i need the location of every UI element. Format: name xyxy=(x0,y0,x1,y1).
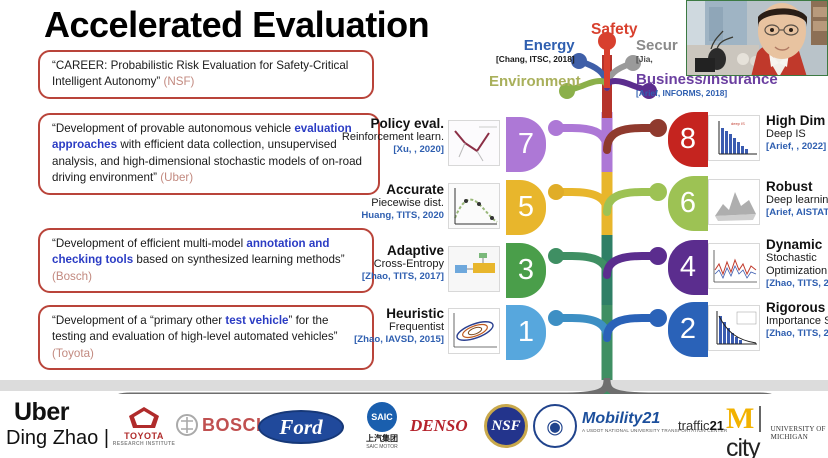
node-row-5: 5 Accurate Piecewise dist. Huang, TITS, … xyxy=(386,180,566,238)
canopy-energy-text: Energy xyxy=(496,38,575,54)
node-badge-4[interactable]: 4 xyxy=(668,240,708,295)
svg-text:deep IS: deep IS xyxy=(731,121,745,126)
node-row-2: 2 Rigorous Importance Sampling [ xyxy=(668,302,828,360)
node-thumb-4-timeseries-plot xyxy=(708,243,760,289)
node-title-2: Rigorous xyxy=(766,300,828,315)
umich-m-mark: M xyxy=(726,402,754,435)
toyota-logo-text: TOYOTA xyxy=(124,431,164,441)
node-text-8: High Dim Deep IS [Arief, , 2022] xyxy=(766,113,828,153)
node-thumb-7-line-network-plot xyxy=(448,120,500,166)
ford-logo: Ford xyxy=(258,410,344,444)
toyota-mark-icon xyxy=(125,405,163,431)
node-cite-7: [Xu, , 2020] xyxy=(334,144,444,156)
node-thumb-6-surface-3d-plot xyxy=(708,179,760,225)
node-text-1: Heuristic Frequentist [Zhao, IAVSD, 2015… xyxy=(326,306,444,346)
node-title-8: High Dim xyxy=(766,113,828,128)
node-text-3: Adaptive Cross-Entropy [Zhao, TITS, 2017… xyxy=(332,243,444,283)
canopy-label-safety: Safety xyxy=(591,22,638,38)
node-text-2: Rigorous Importance Sampling [Zhao, TITS… xyxy=(766,300,828,340)
webcam-watermark-icon xyxy=(695,58,715,72)
sponsor-logo-bar: Uber Ding Zhao | TOYOTA RESEARCH INSTITU… xyxy=(0,394,828,458)
mcity-umich-logo: Mcity UNIVERSITY OF MICHIGAN xyxy=(726,404,828,458)
node-row-7: 7 Policy eval. Reinforcement learn. [Xu,… xyxy=(386,117,566,175)
node-thumb-3-block-diagram xyxy=(448,246,500,292)
canopy-safety-text: Safety xyxy=(591,22,638,38)
node-thumb-1-ellipse-contour-plot xyxy=(448,308,500,354)
traffic21-logo-text: traffic xyxy=(678,418,710,433)
node-title-5: Accurate xyxy=(334,182,444,197)
node-row-6: 6 Robust Deep learning [Arief, AISTAT, 2… xyxy=(668,176,828,234)
presenter-name: Ding Zhao | xyxy=(6,427,109,450)
canopy-environment-text: Environment xyxy=(489,74,581,90)
node-badge-7[interactable]: 7 xyxy=(506,117,546,172)
node-sub-2: Importance Sampling xyxy=(766,315,828,328)
grant-box-uber: “Development of provable autonomous vehi… xyxy=(38,113,380,195)
node-sub-6: Deep learning xyxy=(766,194,828,207)
canopy-label-energy: Energy [Chang, ITSC, 2018] xyxy=(496,38,575,64)
grant-box-bosch: “Development of efficient multi-model an… xyxy=(38,228,374,293)
traffic21-logo-num: 21 xyxy=(710,418,724,433)
canopy-business-cite: [Arief, INFORMS, 2018] xyxy=(636,88,778,98)
node-title-6: Robust xyxy=(766,179,828,194)
node-sub-8: Deep IS xyxy=(766,128,828,141)
node-thumb-2-histogram-plot xyxy=(708,305,760,351)
bosch-logo: BOSCH xyxy=(176,414,270,436)
canopy-security-text: Secur xyxy=(636,38,678,54)
node-badge-8[interactable]: 8 xyxy=(668,112,708,167)
uber-logo: Uber xyxy=(14,398,69,427)
node-row-8: 8 deep IS High Dim Deep IS [Ari xyxy=(668,112,828,170)
saic-logo-en: SAIC MOTOR xyxy=(366,444,398,450)
toyota-logo-sub: RESEARCH INSTITUTE xyxy=(113,441,175,447)
node-sub-4: Stochastic Optimization, xyxy=(766,252,828,278)
saic-mark-icon: SAIC xyxy=(367,402,397,432)
node-title-4: Dynamic xyxy=(766,237,828,252)
node-row-1: 1 Heuristic Frequentist [Zhao, IAVSD, 20… xyxy=(386,305,566,363)
grant-text: “Development of provable autonomous vehi… xyxy=(52,122,294,135)
node-text-4: Dynamic Stochastic Optimization, [Zhao, … xyxy=(766,237,828,290)
nsf-logo: NSF xyxy=(484,404,528,448)
grant-highlight: test vehicle xyxy=(225,314,288,327)
node-title-7: Policy eval. xyxy=(334,116,444,131)
node-badge-1[interactable]: 1 xyxy=(506,305,546,360)
node-sub-3: Cross-Entropy xyxy=(332,258,444,271)
node-cite-3: [Zhao, TITS, 2017] xyxy=(332,271,444,283)
page-title: Accelerated Evaluation xyxy=(44,4,429,46)
node-text-6: Robust Deep learning [Arief, AISTAT, 202… xyxy=(766,179,828,219)
mobility21-logo-text: Mobility21 xyxy=(582,410,660,428)
node-row-4: 4 Dynamic Stochastic Optimization, [Zhao… xyxy=(668,240,828,298)
slide-canvas: Accelerated Evaluation “CAREER: Probabil… xyxy=(0,0,828,458)
node-text-7: Policy eval. Reinforcement learn. [Xu, ,… xyxy=(334,116,444,156)
grant-text: “CAREER: Probabilistic Risk Evaluation f… xyxy=(52,59,348,88)
grant-text: “Development of efficient multi-model xyxy=(52,237,246,250)
mcity-logo-text: city xyxy=(726,434,760,458)
node-cite-4: [Zhao, TITS, 2018] xyxy=(766,278,828,290)
node-sub-7: Reinforcement learn. xyxy=(334,131,444,144)
bosch-mark-icon xyxy=(176,414,198,436)
grant-agency: (Uber) xyxy=(160,171,193,184)
node-text-5: Accurate Piecewise dist. Huang, TITS, 20… xyxy=(334,182,444,222)
node-badge-5[interactable]: 5 xyxy=(506,180,546,235)
saic-logo: SAIC 上汽集团 SAIC MOTOR xyxy=(352,402,412,450)
canopy-energy-cite: [Chang, ITSC, 2018] xyxy=(496,54,575,64)
node-badge-2[interactable]: 2 xyxy=(668,302,708,357)
grant-agency: (Bosch) xyxy=(52,270,92,283)
node-sub-1: Frequentist xyxy=(326,321,444,334)
node-title-3: Adaptive xyxy=(332,243,444,258)
node-cite-6: [Arief, AISTAT, 2020] xyxy=(766,207,828,219)
grant-box-nsf: “CAREER: Probabilistic Risk Evaluation f… xyxy=(38,50,374,99)
denso-logo: DENSO xyxy=(410,416,468,436)
node-cite-5: Huang, TITS, 2020 xyxy=(334,210,444,222)
node-thumb-8-decay-bar-plot: deep IS xyxy=(708,115,760,161)
node-cite-8: [Arief, , 2022] xyxy=(766,141,828,153)
grant-text-cont: based on synthesized learning methods” xyxy=(133,253,344,266)
node-row-3: 3 Adaptive Cross-Entropy [Zhao, TITS, 20… xyxy=(386,243,566,301)
usdot-logo: ◉ xyxy=(533,404,577,448)
node-cite-2: [Zhao, TITS, 2017] xyxy=(766,328,828,340)
canopy-label-security: Secur [Jia, xyxy=(636,38,678,64)
node-thumb-5-curve-fit-plot xyxy=(448,183,500,229)
node-title-1: Heuristic xyxy=(326,306,444,321)
grant-agency: (NSF) xyxy=(164,75,195,88)
grant-agency: (Toyota) xyxy=(52,347,94,360)
node-badge-3[interactable]: 3 xyxy=(506,243,546,298)
umich-logo-sub: UNIVERSITY OF MICHIGAN xyxy=(771,425,828,441)
node-badge-6[interactable]: 6 xyxy=(668,176,708,231)
node-cite-1: [Zhao, IAVSD, 2015] xyxy=(326,334,444,346)
grant-box-toyota: “Development of a “primary other test ve… xyxy=(38,305,374,370)
canopy-security-cite: [Jia, xyxy=(636,54,678,64)
umich-divider xyxy=(759,406,761,432)
traffic21-logo: traffic21 xyxy=(678,418,724,433)
saic-logo-cn: 上汽集团 xyxy=(366,433,398,444)
grant-text: “Development of a “primary other xyxy=(52,314,225,327)
canopy-label-environment: Environment xyxy=(489,74,581,90)
node-sub-5: Piecewise dist. xyxy=(334,197,444,210)
